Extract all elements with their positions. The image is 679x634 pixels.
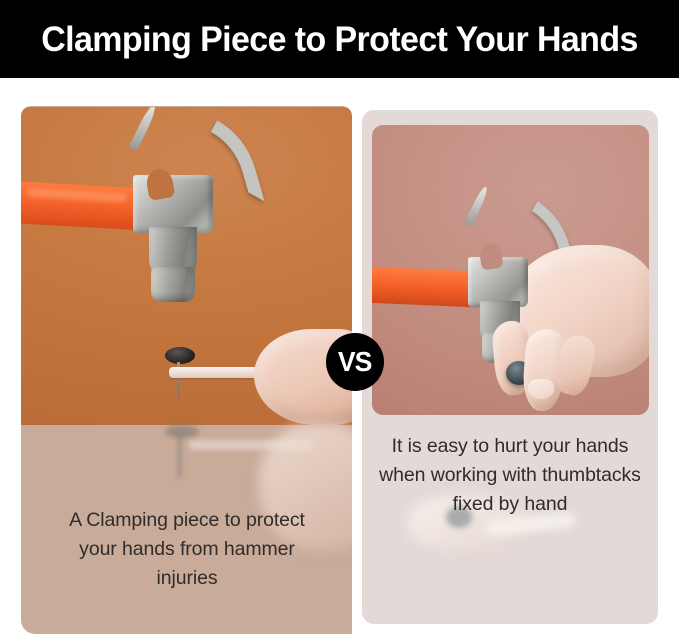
- comparison-stage: A Clamping piece to protect your hands f…: [0, 78, 679, 634]
- comparison-panel-right: It is easy to hurt your hands when worki…: [362, 110, 658, 624]
- comparison-panel-left: A Clamping piece to protect your hands f…: [21, 106, 352, 634]
- hammer-handle-icon: [21, 181, 145, 230]
- panel-caption-right: It is easy to hurt your hands when worki…: [378, 432, 642, 519]
- hammer-handle-icon: [372, 267, 478, 308]
- page-title: Clamping Piece to Protect Your Hands: [41, 22, 638, 57]
- blurred-thumbtack-head: [165, 425, 199, 438]
- blurred-thumbtack-pin: [177, 434, 182, 478]
- fingernail-icon: [528, 379, 554, 399]
- thumbtack-icon: [165, 347, 195, 364]
- panel-caption-left: A Clamping piece to protect your hands f…: [51, 506, 323, 593]
- vs-label: VS: [338, 348, 372, 376]
- vs-badge: VS: [326, 333, 384, 391]
- clamping-piece-icon: [169, 367, 261, 378]
- product-photo-right: [372, 125, 649, 415]
- header-banner: Clamping Piece to Protect Your Hands: [0, 0, 679, 78]
- product-photo-left: [21, 107, 352, 425]
- hammer-face-icon: [151, 267, 195, 302]
